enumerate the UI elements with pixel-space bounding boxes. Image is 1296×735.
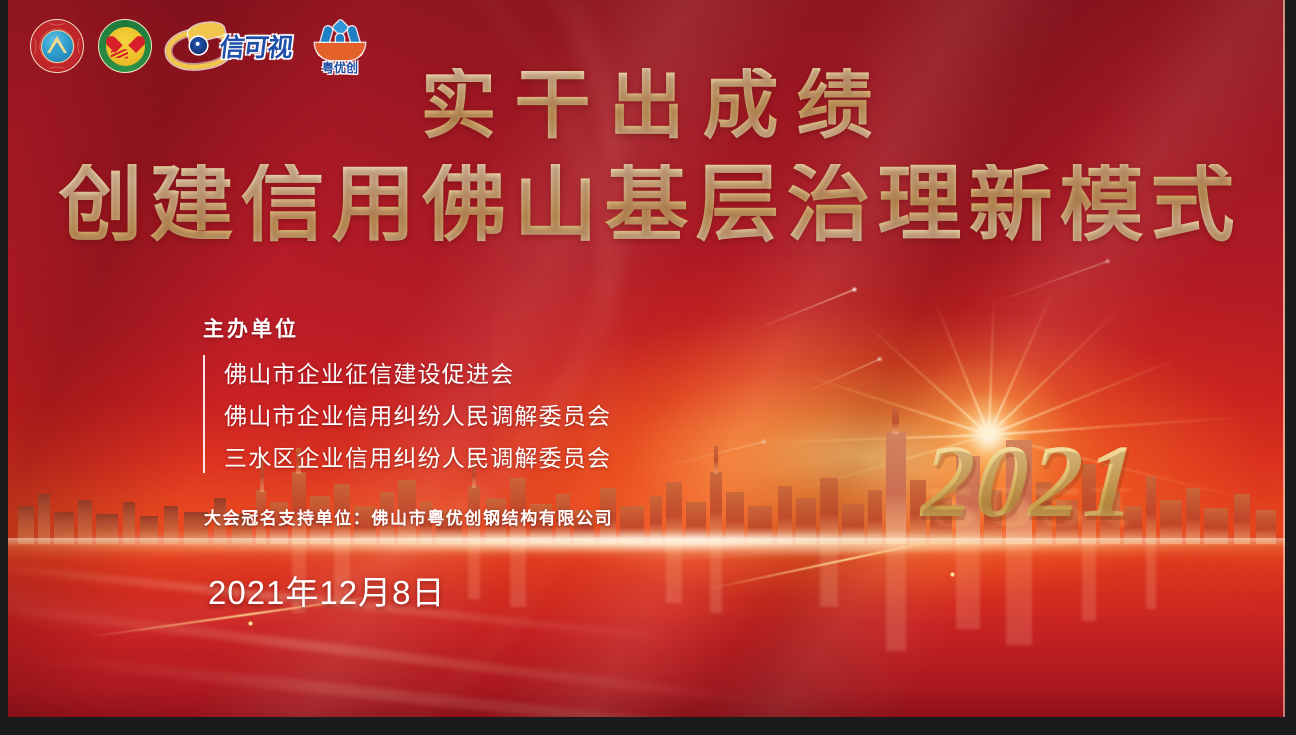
xinkeshi-eye-logo: 信可视 [166,23,298,69]
seal-triangle-inner-icon [50,42,64,53]
poster-title-line-2: 创建信用佛山基层治理新模式 [8,164,1285,248]
event-date: 2021年12月8日 [208,566,445,614]
organizer-list: 佛山市企业征信建设促进会 佛山市企业信用纠纷人民调解委员会 三水区企业信用纠纷人… [224,355,611,473]
sponsor-logo-row: 信可视 粤优创 [30,18,368,74]
yueyouchuang-logo: 粤优创 [312,18,368,74]
list-item: 三水区企业信用纠纷人民调解委员会 [224,439,611,473]
poster-title-block: 实干出成绩 创建信用佛山基层治理新模式 [8,68,1285,248]
eye-graphic [166,25,226,67]
organizer-vertical-rule [203,355,205,473]
spark-icon [248,621,253,626]
poster-title-line-1: 实干出成绩 [8,68,1285,144]
organizer-list-wrapper: 佛山市企业征信建设促进会 佛山市企业信用纠纷人民调解委员会 三水区企业信用纠纷人… [203,355,611,473]
spark-icon [950,572,955,577]
list-item: 佛山市企业征信建设促进会 [224,355,611,389]
list-item: 佛山市企业信用纠纷人民调解委员会 [224,397,611,431]
eye-pupil-icon [190,37,207,54]
handshake-heart-logo [98,19,152,73]
xinkeshi-wordmark: 信可视 [218,28,294,64]
conference-poster: 2021 2021 [8,0,1285,717]
viewport-right-margin [1285,0,1296,735]
credit-association-seal-logo [30,19,84,73]
organizer-block: 主办单位 佛山市企业征信建设促进会 佛山市企业信用纠纷人民调解委员会 三水区企业… [203,313,611,473]
organizer-heading: 主办单位 [203,313,611,343]
figure-head-icon [332,20,348,36]
seal-center-emblem [41,30,74,63]
title-sponsor-line: 大会冠名支持单位：佛山市粤优创钢结构有限公司 [204,504,613,529]
year-graphic-2021: 2021 [918,430,1141,534]
viewport-left-margin [0,0,8,735]
viewport-bottom-margin [0,717,1296,735]
boat-bowl-icon [315,43,365,60]
handshake-icon [110,48,127,58]
screenshot-viewport: 2021 2021 [0,0,1296,735]
handshake-disc [106,27,145,66]
